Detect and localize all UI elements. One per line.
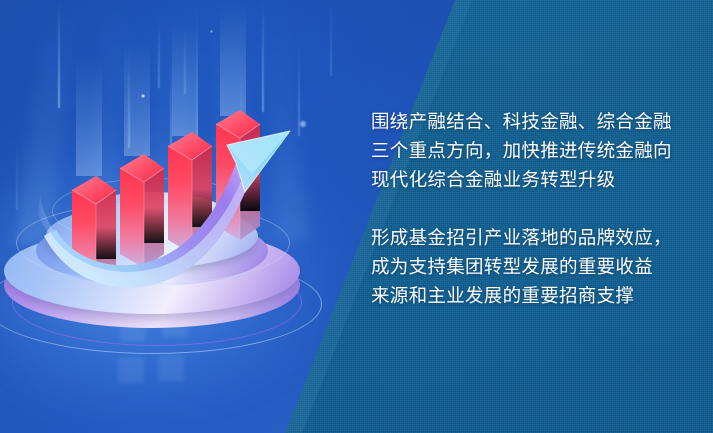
paragraph-one-line-1: 围绕产融结合、科技金融、综合金融 (371, 107, 681, 136)
text-panel: 围绕产融结合、科技金融、综合金融 三个重点方向，加快推进传统金融向 现代化综合金… (371, 107, 681, 310)
paragraph-two-line-3: 来源和主业发展的重要招商支撑 (371, 281, 681, 310)
paragraph-one-line-3: 现代化综合金融业务转型升级 (371, 165, 681, 194)
paragraph-two-line-1: 形成基金招引产业落地的品牌效应， (371, 223, 681, 252)
paragraph-two: 形成基金招引产业落地的品牌效应， 成为支持集团转型发展的重要收益 来源和主业发展… (371, 223, 681, 310)
paragraph-one: 围绕产融结合、科技金融、综合金融 三个重点方向，加快推进传统金融向 现代化综合金… (371, 107, 681, 194)
paragraph-one-line-2: 三个重点方向，加快推进传统金融向 (371, 136, 681, 165)
paragraph-two-line-2: 成为支持集团转型发展的重要收益 (371, 252, 681, 281)
banner-canvas: 围绕产融结合、科技金融、综合金融 三个重点方向，加快推进传统金融向 现代化综合金… (0, 0, 713, 433)
